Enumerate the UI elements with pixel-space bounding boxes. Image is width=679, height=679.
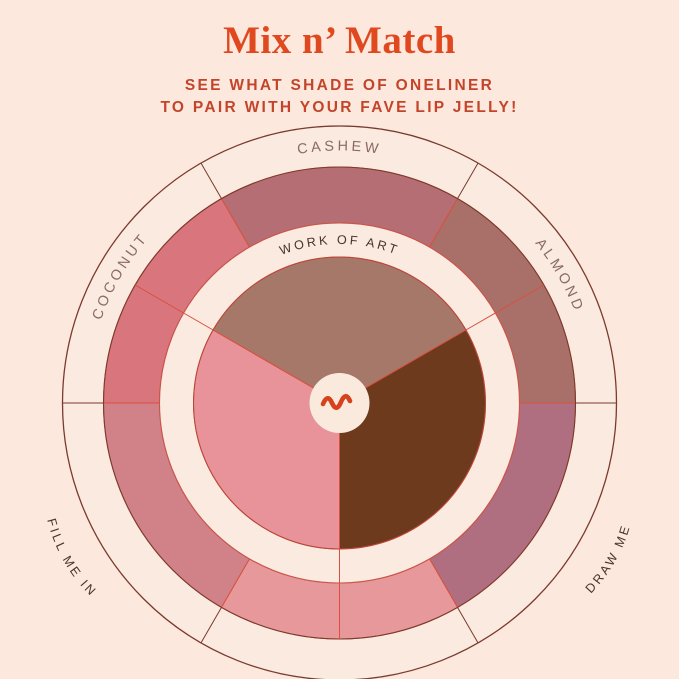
shade-match-wheel: PISTACHIOCOCONUTCASHEWALMONDSESAMEOATFIL… bbox=[0, 0, 679, 679]
inner-label-draw-me: DRAW ME bbox=[583, 522, 634, 596]
mix-n-match-poster: Mix n’ Match SEE WHAT SHADE OF ONELINER … bbox=[0, 0, 679, 679]
inner-label-fill-me-in: FILL ME IN bbox=[44, 517, 100, 600]
